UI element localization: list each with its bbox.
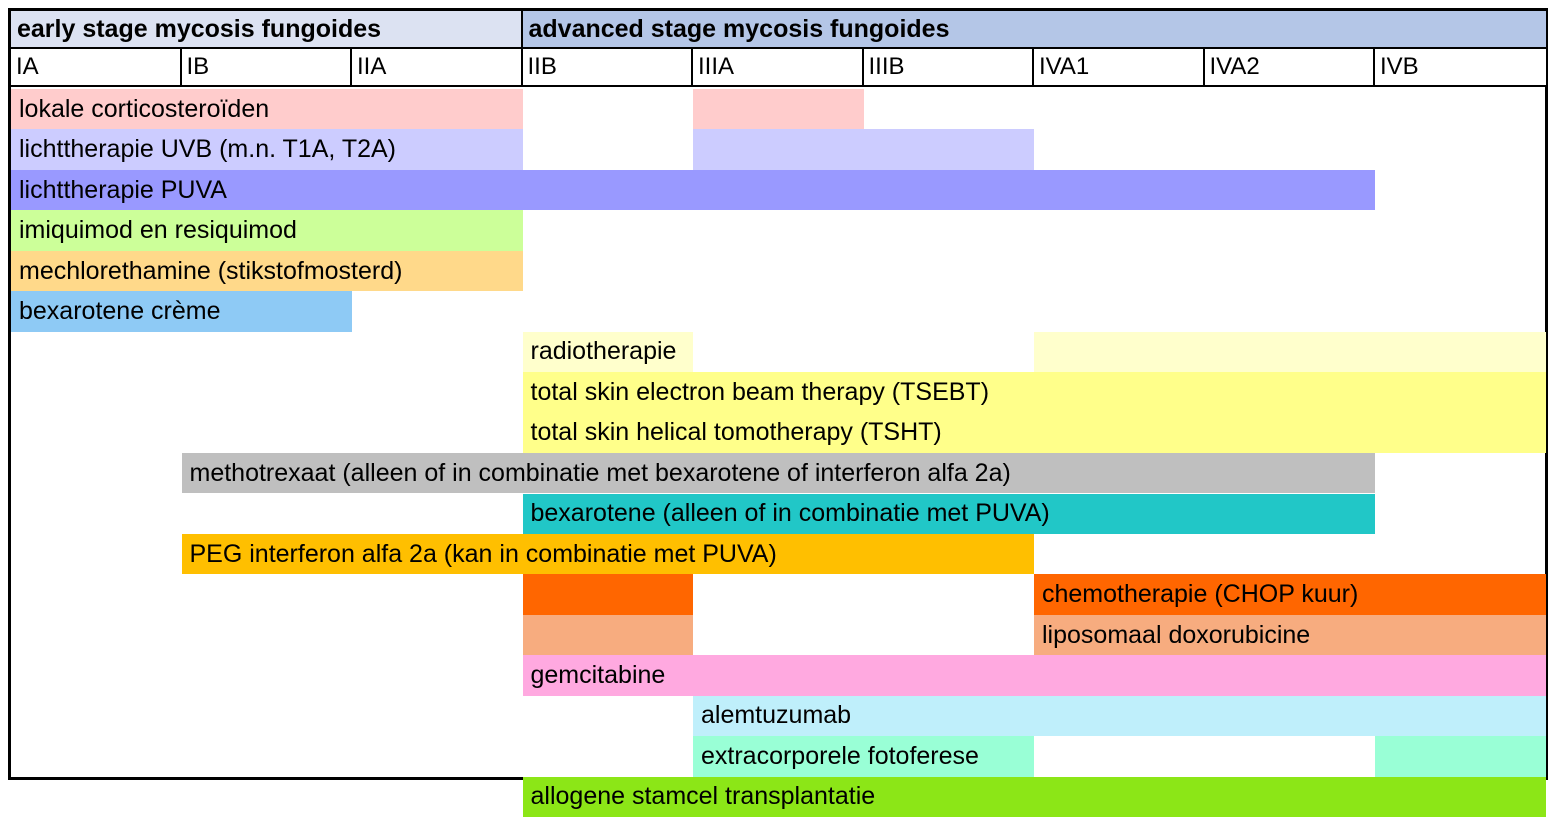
treatment-band-segment[interactable] xyxy=(523,777,1546,817)
stage-header-ivb[interactable]: IVB xyxy=(1375,49,1546,87)
treatment-band-segment[interactable] xyxy=(182,453,1376,493)
treatment-band-segment[interactable] xyxy=(693,129,1034,169)
treatment-row: mechlorethamine (stikstofmosterd) xyxy=(11,251,1545,291)
treatment-band-segment[interactable] xyxy=(11,251,523,291)
treatment-band-segment[interactable] xyxy=(11,89,523,129)
stage-header-iva1[interactable]: IVA1 xyxy=(1034,49,1205,87)
treatment-row: bexarotene crème xyxy=(11,291,1545,331)
treatment-band-segment[interactable] xyxy=(523,494,1376,534)
treatment-row: total skin electron beam therapy (TSEBT) xyxy=(11,372,1545,412)
stage-header-iia[interactable]: IIA xyxy=(352,49,523,87)
stage-header-iiib[interactable]: IIIB xyxy=(864,49,1035,87)
treatment-row: gemcitabine xyxy=(11,655,1545,695)
stage-header-ib[interactable]: IB xyxy=(182,49,353,87)
treatment-band-segment[interactable] xyxy=(11,291,352,331)
treatment-row: alemtuzumab xyxy=(11,696,1545,736)
treatment-row: PEG interferon alfa 2a (kan in combinati… xyxy=(11,534,1545,574)
treatment-band-segment[interactable] xyxy=(182,534,1035,574)
treatment-band-segment[interactable] xyxy=(693,696,1546,736)
treatment-band-segment[interactable] xyxy=(1034,615,1546,655)
treatment-band-area: lokale corticosteroïdenlichttherapie UVB… xyxy=(11,89,1545,777)
treatment-band-segment[interactable] xyxy=(11,210,523,250)
treatment-row: methotrexaat (alleen of in combinatie me… xyxy=(11,453,1545,493)
treatment-band-segment[interactable] xyxy=(523,615,694,655)
treatment-row: lichttherapie PUVA xyxy=(11,170,1545,210)
treatment-band-segment[interactable] xyxy=(1034,332,1546,372)
treatment-row: chemotherapie (CHOP kuur) xyxy=(11,574,1545,614)
stage-header-ia[interactable]: IA xyxy=(11,49,182,87)
treatment-band-segment[interactable] xyxy=(693,736,1034,776)
treatment-row: total skin helical tomotherapy (TSHT) xyxy=(11,413,1545,453)
treatment-band-segment[interactable] xyxy=(523,413,1546,453)
treatment-row: allogene stamcel transplantatie xyxy=(11,777,1545,817)
treatment-row: lokale corticosteroïden xyxy=(11,89,1545,129)
treatment-row: extracorporele fotoferese xyxy=(11,736,1545,776)
stage-header-iva2[interactable]: IVA2 xyxy=(1205,49,1376,87)
group-header-advanced: advanced stage mycosis fungoides xyxy=(523,11,1546,49)
treatment-band-segment[interactable] xyxy=(11,129,523,169)
treatment-band-segment[interactable] xyxy=(1034,574,1546,614)
treatment-band-segment[interactable] xyxy=(11,170,1375,210)
treatment-band-segment[interactable] xyxy=(523,655,1546,695)
treatment-row: lichttherapie UVB (m.n. T1A, T2A) xyxy=(11,129,1545,169)
treatment-row: liposomaal doxorubicine xyxy=(11,615,1545,655)
treatment-band-segment[interactable] xyxy=(523,372,1546,412)
treatment-band-segment[interactable] xyxy=(693,89,864,129)
stage-header-iib[interactable]: IIB xyxy=(523,49,694,87)
group-header-early: early stage mycosis fungoides xyxy=(11,11,523,49)
treatment-band-segment[interactable] xyxy=(523,574,694,614)
treatment-stage-chart: early stage mycosis fungoidesadvanced st… xyxy=(0,0,1556,788)
treatment-band-segment[interactable] xyxy=(1375,736,1546,776)
stage-header-iiia[interactable]: IIIA xyxy=(693,49,864,87)
treatment-band-segment[interactable] xyxy=(523,332,694,372)
treatment-row: bexarotene (alleen of in combinatie met … xyxy=(11,494,1545,534)
treatment-row: imiquimod en resiquimod xyxy=(11,210,1545,250)
treatment-row: radiotherapie xyxy=(11,332,1545,372)
